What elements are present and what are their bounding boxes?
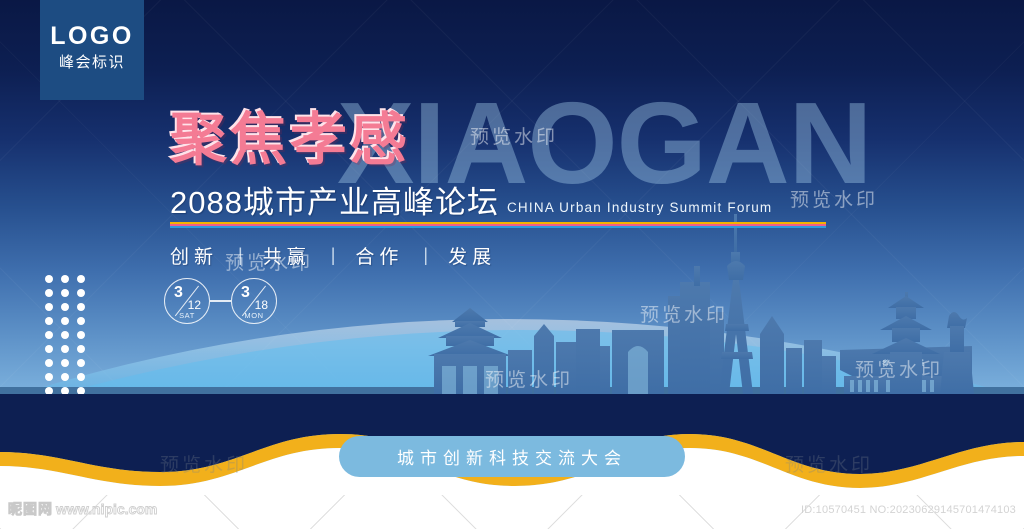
grid-dot [61,303,69,311]
grid-dot [77,303,85,311]
subtitle-row: 2088城市产业高峰论坛 CHINA Urban Industry Summit… [170,187,772,218]
divider-line-blue [170,226,826,228]
grid-dot [45,275,53,283]
footer-bar: 昵图网 www.nipic.com ID:10570451 NO:2023062… [0,495,1024,529]
grid-dot [77,359,85,367]
grid-dot [45,345,53,353]
grid-dot [45,331,53,339]
logo-box: LOGO 峰会标识 [40,0,144,100]
keyword-3: 合作 [355,242,403,269]
grid-dot [61,345,69,353]
nipic-logo-url: www.nipic.com [56,502,157,516]
logo-text-cn: 峰会标识 [59,55,125,70]
keyword-2: 共赢 [263,242,311,269]
grid-dot [45,359,53,367]
grid-dot [61,373,69,381]
tricolor-divider [170,222,826,229]
image-id-text: ID:10570451 NO:20230629145701474103 [801,504,1016,516]
grid-dot [77,317,85,325]
date-badges: 312SAT318MON [164,278,277,324]
date-badge-2: 318MON [231,278,277,324]
grid-dot [61,331,69,339]
city-skyline-illustration: 孝感国际会展 XIAOGAN EXPO [0,204,1024,394]
logo-text-en: LOGO [50,24,134,49]
grid-dot [45,289,53,297]
subtitle-chinese: 2088城市产业高峰论坛 [170,187,499,218]
date-day: 18 [255,299,268,311]
grid-dot [45,373,53,381]
grid-dot [61,317,69,325]
date-day: 12 [188,299,201,311]
bottom-pill-banner: 城市创新科技交流大会 [339,436,685,477]
grid-dot [77,275,85,283]
nipic-logo: 昵图网 www.nipic.com [8,502,157,516]
keyword-separator: | [218,245,263,266]
grid-dot [61,275,69,283]
date-month: 3 [174,285,183,301]
keyword-separator: | [403,245,448,266]
grid-dot [45,303,53,311]
grid-dot [45,317,53,325]
grid-dot [77,289,85,297]
grid-dot [77,331,85,339]
date-month: 3 [241,285,250,301]
date-connector-line [210,300,231,301]
main-title: 聚焦孝感 [170,112,410,169]
grid-dot [61,289,69,297]
grid-dot [77,373,85,381]
date-weekday: SAT [165,312,209,320]
nipic-logo-cn: 昵图网 [8,502,53,516]
keyword-1: 创新 [170,242,218,269]
date-weekday: MON [232,312,276,320]
date-badge-1: 312SAT [164,278,210,324]
keyword-4: 发展 [448,242,496,269]
keyword-list: 创新|共赢|合作|发展 [170,242,496,269]
keyword-separator: | [311,245,356,266]
subtitle-english: CHINA Urban Industry Summit Forum [507,201,772,219]
dot-grid-decoration [45,275,93,401]
background-word-xiaogan: XIAOGAN [337,88,871,198]
grid-dot [61,359,69,367]
grid-dot [77,345,85,353]
poster-canvas: XIAOGAN LOGO 峰会标识 聚焦孝感 2088城市产业高峰论坛 CHIN… [0,0,1024,495]
